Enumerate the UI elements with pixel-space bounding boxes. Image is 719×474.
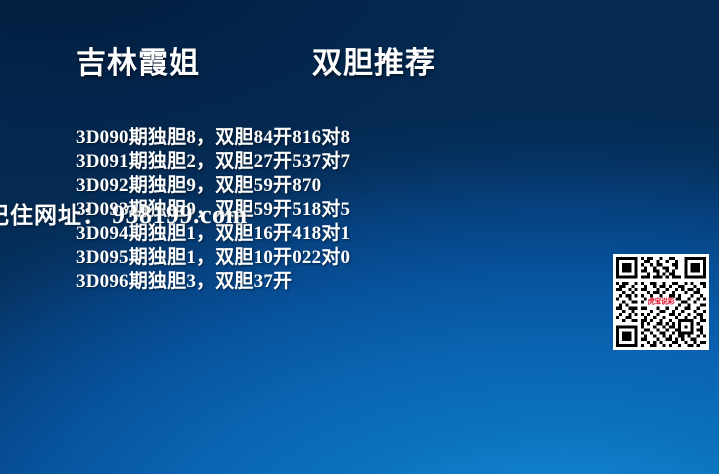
qr-center-label: 虎宝说彩 xyxy=(647,298,676,307)
qr-code-canvas: 虎宝说彩 xyxy=(616,257,706,347)
prediction-line: 3D096期独胆3，双胆37开 xyxy=(76,270,506,294)
prediction-line: 3D095期独胆1，双胆10开022对0 xyxy=(76,246,506,270)
prediction-line: 3D092期独胆9，双胆59开870 xyxy=(76,174,506,198)
headline-right-title: 双胆推荐 xyxy=(312,38,436,82)
prediction-line: 3D090期独胆8，双胆84开816对8 xyxy=(76,126,506,150)
footer-label: 记住网址： xyxy=(0,196,106,230)
qr-code[interactable]: 虎宝说彩 xyxy=(613,254,709,350)
footer-website: 记住网址： 938199.com xyxy=(0,196,705,230)
headline-left-title: 吉林霞姐 xyxy=(76,38,200,82)
footer-url: 938199.com xyxy=(112,200,248,230)
prediction-line: 3D091期独胆2，双胆27开537对7 xyxy=(76,150,506,174)
poster-canvas: 吉林霞姐 双胆推荐 3D090期独胆8，双胆84开816对8 3D091期独胆2… xyxy=(0,0,719,474)
headline: 吉林霞姐 双胆推荐 xyxy=(76,38,719,82)
